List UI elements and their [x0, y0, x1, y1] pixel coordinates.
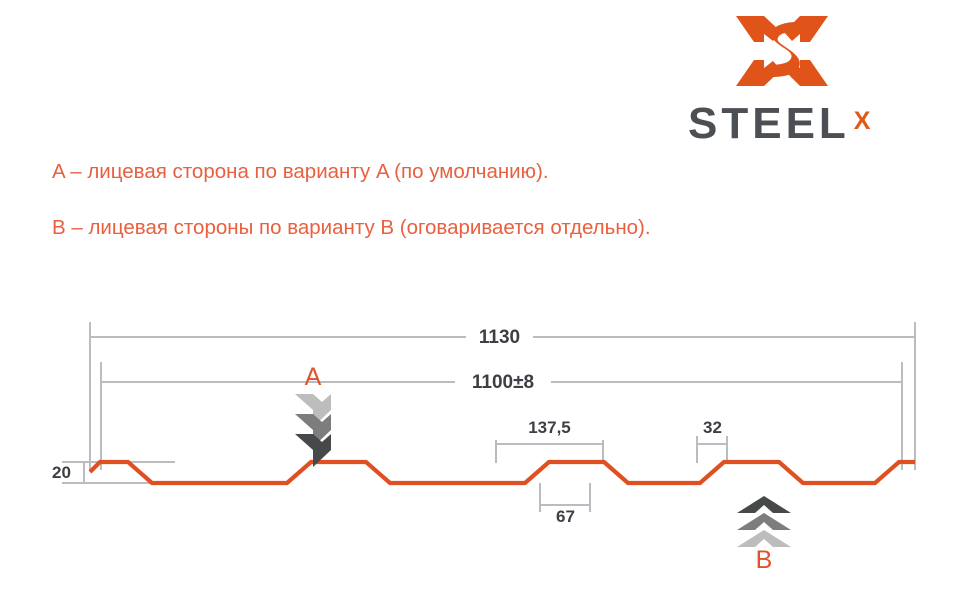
marker-a-chevrons: [286, 394, 331, 467]
chevron-b-1: [737, 496, 791, 513]
profile-technical-drawing: [0, 0, 970, 597]
marker-label-a: A: [296, 363, 330, 392]
marker-b-chevrons: [737, 496, 791, 547]
dim-label-rib-top-width: 32: [697, 418, 728, 438]
dim-label-pitch: 137,5: [513, 418, 586, 438]
chevron-b-2: [737, 513, 791, 530]
profile-outline: [90, 462, 915, 483]
dim-label-overall-width: 1130: [466, 327, 533, 349]
chevron-b-3: [737, 530, 791, 547]
marker-label-b: B: [747, 546, 781, 575]
dim-label-valley-width: 67: [540, 507, 591, 527]
dim-label-profile-height: 20: [46, 463, 77, 483]
drawing-page: STEEL X A – лицевая сторона по варианту …: [0, 0, 970, 597]
dim-label-cover-width: 1100±8: [455, 372, 551, 394]
